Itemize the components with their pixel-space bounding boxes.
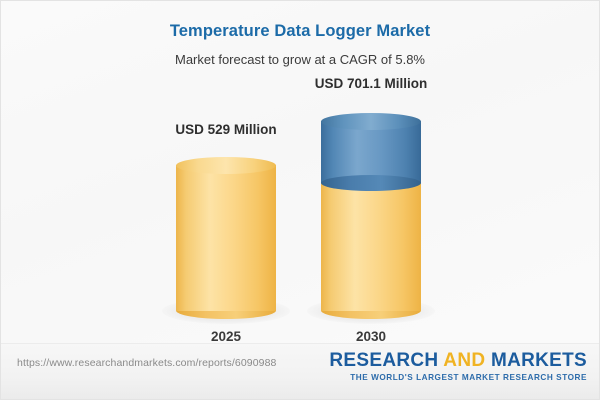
bar-year-label-2030: 2030 [261, 329, 481, 344]
bar-group-2025: USD 529 Million 2025 [176, 151, 276, 311]
cylinder-top-ellipse-2025 [176, 157, 276, 174]
logo-wordmark: RESEARCH AND MARKETS [329, 351, 587, 371]
cylinder-body-2025 [176, 165, 276, 311]
chart-plot-area: USD 529 Million 2025 USD 701.1 Million [1, 1, 600, 346]
logo-word-and: AND [443, 350, 485, 371]
report-url[interactable]: https://www.researchandmarkets.com/repor… [17, 357, 276, 369]
bar-value-label-2025: USD 529 Million [116, 122, 336, 137]
cylinder-segment-seam-2030 [321, 175, 421, 191]
logo-word-research: RESEARCH [329, 350, 443, 371]
research-and-markets-logo[interactable]: RESEARCH AND MARKETS THE WORLD'S LARGEST… [329, 351, 587, 382]
cylinder-top-ellipse-2030 [321, 113, 421, 130]
bar-group-2030: USD 701.1 Million 2030 [321, 106, 421, 311]
footer: https://www.researchandmarkets.com/repor… [1, 343, 600, 399]
market-forecast-infographic: Temperature Data Logger Market Market fo… [0, 0, 600, 400]
cylinder-segment-base-2030 [321, 183, 421, 311]
cylinder-2030 [321, 121, 421, 311]
bar-value-label-2030: USD 701.1 Million [261, 76, 481, 91]
cylinder-segment-growth-2030 [321, 121, 421, 183]
logo-word-markets: MARKETS [485, 350, 587, 371]
cylinder-2025 [176, 165, 276, 311]
logo-tagline: THE WORLD'S LARGEST MARKET RESEARCH STOR… [329, 373, 587, 382]
